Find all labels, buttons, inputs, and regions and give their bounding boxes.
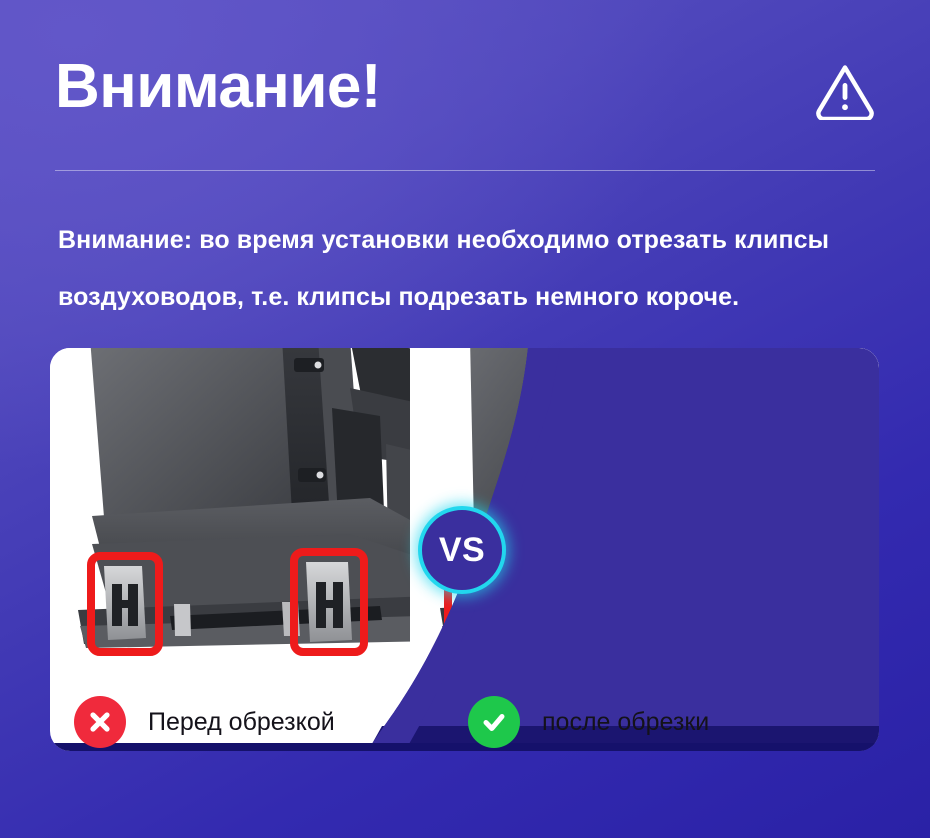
warning-message: Внимание: во время установки необходимо … [58, 212, 888, 326]
warning-triangle-icon [815, 62, 875, 120]
page-title: Внимание! [55, 48, 381, 126]
caption-before-trim: Перед обрезкой [50, 693, 430, 751]
vs-badge: VS [418, 506, 506, 594]
check-icon [468, 696, 520, 748]
cross-icon [74, 696, 126, 748]
caption-after-label: после обрезки [542, 708, 709, 737]
caption-after-trim: после обрезки [410, 693, 879, 751]
header-divider [55, 170, 875, 171]
vs-label: VS [439, 533, 485, 567]
caption-before-label: Перед обрезкой [148, 708, 335, 737]
poster-root: Внимание! Внимание: во время установки н… [0, 0, 930, 838]
header: Внимание! [55, 48, 875, 140]
